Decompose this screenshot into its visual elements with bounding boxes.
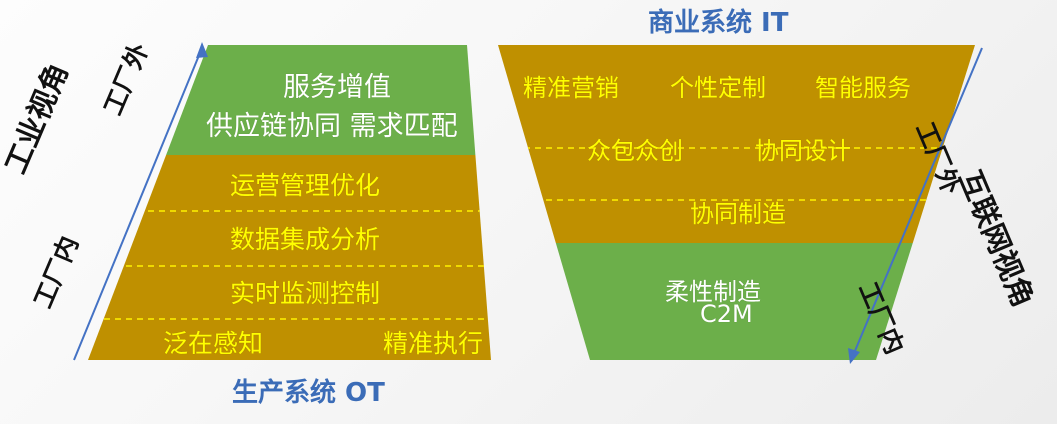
heading-it: 商业系统 IT [648, 2, 788, 39]
pyramid-shapes [0, 0, 1057, 424]
diagram-canvas: 商业系统 IT 生产系统 OT 工业视角 工厂外 工厂内 互联网视角 工厂外 工… [0, 0, 1057, 424]
right-layer-3-item-1: 协同制造 [690, 194, 786, 229]
right-layer-4-item-2: C2M [700, 300, 753, 328]
right-layer-1-item-3: 智能服务 [815, 68, 911, 103]
left-layer-5-label-b: 精准执行 [383, 324, 483, 360]
right-layer-2-item-1: 众包众创 [587, 131, 683, 166]
right-layer-1-item-1: 精准营销 [523, 68, 619, 103]
heading-ot: 生产系统 OT [232, 372, 385, 409]
left-layer-3-label: 数据集成分析 [230, 220, 380, 256]
left-layer-2-label: 运营管理优化 [230, 166, 380, 202]
left-layer-1-line-1: 服务增值 [283, 65, 391, 104]
left-layer-1-line-2: 供应链协同 需求匹配 [206, 104, 458, 143]
right-layer-2-item-2: 协同设计 [755, 131, 851, 166]
left-layer-5-label-a: 泛在感知 [163, 324, 263, 360]
right-layer-1-item-2: 个性定制 [670, 68, 766, 103]
left-layer-4-label: 实时监测控制 [230, 274, 380, 310]
